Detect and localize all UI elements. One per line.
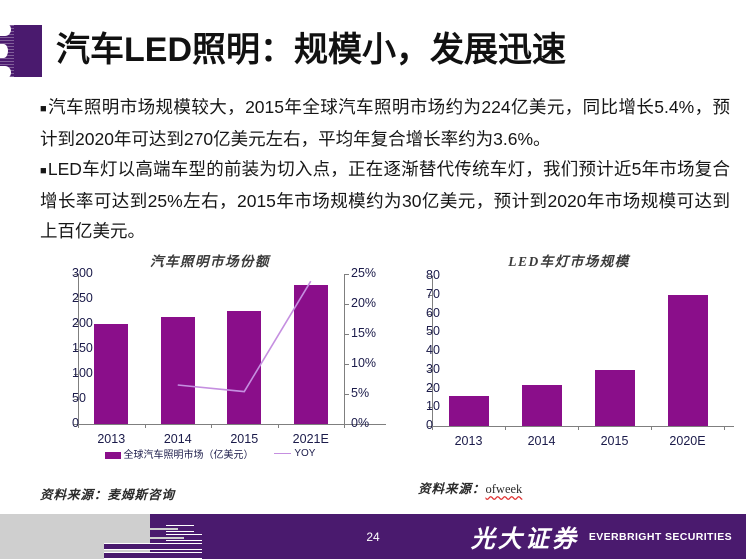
title-accent-notch-bottom xyxy=(0,66,11,79)
x-tick xyxy=(578,426,579,430)
title-accent-mark xyxy=(0,25,42,77)
x-axis-label: 2021E xyxy=(293,432,329,446)
plot-area-left: 0501001502002503000%5%10%15%20%25%201320… xyxy=(34,274,386,424)
legend-line-label: YOY xyxy=(294,448,315,459)
x-axis-label: 2013 xyxy=(455,434,483,448)
chart-legend-left: 全球汽车照明市场（亿美元） YOY xyxy=(34,446,386,461)
bullet-2-text: LED车灯以高端车型的前装为切入点，正在逐渐替代传统车灯，我们预计近5年市场复合… xyxy=(40,159,730,241)
body-text: ■汽车照明市场规模较大，2015年全球汽车照明市场约为224亿美元，同比增长5.… xyxy=(40,92,730,246)
brand-name-en: EVERBRIGHT SECURITIES xyxy=(589,531,732,543)
x-tick xyxy=(432,426,433,430)
x-tick xyxy=(724,426,725,430)
source-right-value: ofweek xyxy=(486,482,523,496)
bar xyxy=(449,396,489,426)
chart-auto-lighting-market-share: 汽车照明市场份额 0501001502002503000%5%10%15%20%… xyxy=(34,250,386,500)
page-title: 汽车LED照明：规模小，发展迅速 xyxy=(56,22,566,71)
bar xyxy=(595,370,635,426)
bar xyxy=(668,295,708,426)
x-axis-label: 2014 xyxy=(528,434,556,448)
x-tick xyxy=(651,426,652,430)
brand-name-cn: 光大证券 xyxy=(471,519,579,554)
x-axis-label: 2020E xyxy=(669,434,705,448)
legend-item-line: YOY xyxy=(274,448,315,459)
bullet-square-icon: ■ xyxy=(40,165,47,177)
bullet-paragraph-2: ■LED车灯以高端车型的前装为切入点，正在逐渐替代传统车灯，我们预计近5年市场复… xyxy=(40,154,730,246)
chart-led-car-lamp-market-size: LED车灯市场规模 010203040506070802013201420152… xyxy=(404,250,734,500)
legend-line-swatch xyxy=(274,453,291,454)
bar xyxy=(522,385,562,426)
x-axis-label: 2015 xyxy=(230,432,258,446)
legend-item-bar: 全球汽车照明市场（亿美元） xyxy=(105,446,254,461)
bullet-1-text: 汽车照明市场规模较大，2015年全球汽车照明市场约为224亿美元，同比增长5.4… xyxy=(40,97,730,149)
yoy-line-series xyxy=(34,274,386,426)
brand-logo: 光大证券 EVERBRIGHT SECURITIES xyxy=(471,514,732,559)
source-right-prefix: 资料来源： xyxy=(418,482,486,496)
x-axis-line xyxy=(432,426,734,427)
bullet-square-icon: ■ xyxy=(40,103,47,115)
bullet-paragraph-1: ■汽车照明市场规模较大，2015年全球汽车照明市场约为224亿美元，同比增长5.… xyxy=(40,92,730,154)
chart-title-right: LED车灯市场规模 xyxy=(404,250,734,270)
source-note-left: 资料来源：麦姆斯咨询 xyxy=(40,484,175,503)
legend-bar-swatch xyxy=(105,452,121,459)
slide-footer: 24 光大证券 EVERBRIGHT SECURITIES xyxy=(0,514,746,559)
legend-bar-label: 全球汽车照明市场（亿美元） xyxy=(124,450,254,461)
x-axis-label: 2013 xyxy=(97,432,125,446)
slide-title-block: 汽车LED照明：规模小，发展迅速 xyxy=(0,22,746,80)
x-axis-label: 2015 xyxy=(601,434,629,448)
x-axis-label: 2014 xyxy=(164,432,192,446)
source-note-right: 资料来源：ofweek xyxy=(418,478,522,497)
x-tick xyxy=(505,426,506,430)
plot-area-right: 010203040506070802013201420152020E xyxy=(404,276,734,426)
